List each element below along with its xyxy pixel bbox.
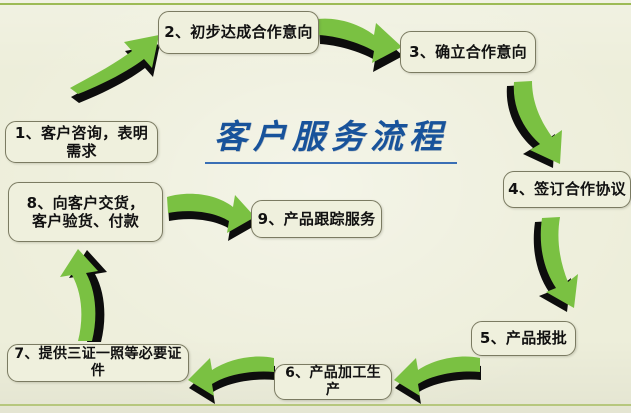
page-title: 客户服务流程	[196, 110, 466, 158]
bottom-border-rule	[0, 404, 631, 406]
node-step-4[interactable]: 4、签订合作协议	[503, 171, 631, 208]
arrow-2-to-3-icon	[316, 13, 408, 79]
node-step-1[interactable]: 1、客户咨询，表明需求	[5, 121, 158, 163]
node-step-1-label: 1、客户咨询，表明需求	[10, 124, 153, 161]
top-border-rule	[0, 3, 631, 5]
node-step-2-label: 2、初步达成合作意向	[164, 23, 312, 41]
arrow-3-to-4-icon	[494, 74, 576, 172]
node-step-3-label: 3、确立合作意向	[409, 43, 527, 61]
arrow-4-to-5-icon	[528, 214, 590, 314]
arrow-7-to-8-icon	[58, 247, 120, 345]
title-underline	[205, 162, 457, 164]
node-step-8-label: 8、向客户交货， 客户验货、付款	[27, 194, 145, 231]
node-step-2[interactable]: 2、初步达成合作意向	[158, 11, 319, 54]
arrow-6-to-7-icon	[186, 352, 278, 408]
node-step-5[interactable]: 5、产品报批	[471, 321, 576, 356]
arrow-5-to-6-icon	[392, 352, 484, 408]
node-step-3[interactable]: 3、确立合作意向	[400, 31, 536, 73]
node-step-6[interactable]: 6、产品加工生产	[274, 364, 392, 400]
node-step-9[interactable]: 9、产品跟踪服务	[251, 200, 382, 238]
node-step-7[interactable]: 7、提供三证一照等必要证件	[7, 344, 189, 382]
node-step-8[interactable]: 8、向客户交货， 客户验货、付款	[8, 182, 163, 242]
arrow-1-to-2-icon	[60, 22, 172, 100]
chart-title-block: 客户服务流程	[196, 110, 466, 164]
flowchart-canvas: 1、客户咨询，表明需求 2、初步达成合作意向 3、确立合作意向 4、签订合作协议…	[0, 0, 631, 413]
arrow-8-to-9-icon	[165, 189, 257, 245]
node-step-4-label: 4、签订合作协议	[508, 180, 626, 198]
node-step-7-label: 7、提供三证一照等必要证件	[12, 346, 184, 380]
node-step-9-label: 9、产品跟踪服务	[258, 210, 376, 228]
node-step-6-label: 6、产品加工生产	[279, 365, 387, 399]
node-step-5-label: 5、产品报批	[480, 329, 567, 347]
